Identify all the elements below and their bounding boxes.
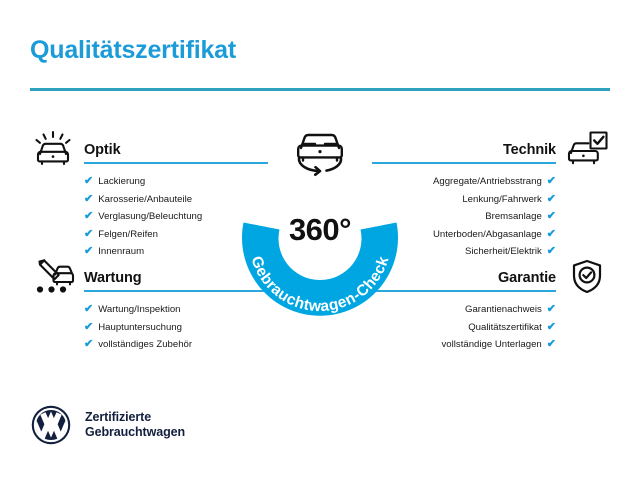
page-title: Qualitätszertifikat xyxy=(30,36,236,65)
check-icon: ✔ xyxy=(547,229,556,240)
check-icon: ✔ xyxy=(547,304,556,315)
list-item-label: vollständiges Zubehör xyxy=(98,336,192,354)
list-item-label: Felgen/Reifen xyxy=(98,226,158,244)
check-icon: ✔ xyxy=(547,322,556,333)
list-item-label: Unterboden/Abgasanlage xyxy=(433,226,542,244)
check-icon: ✔ xyxy=(547,246,556,257)
list-item-label: Qualitätszertifikat xyxy=(468,319,542,337)
car-rotate-360-icon xyxy=(285,124,355,182)
list-item-label: Hauptuntersuchung xyxy=(98,319,182,337)
vw-certified-text: Zertifizierte Gebrauchtwagen xyxy=(85,410,185,441)
vw-logo-icon xyxy=(30,404,72,446)
check-icon: ✔ xyxy=(547,176,556,187)
list-item-label: Aggregate/Antriebsstrang xyxy=(433,173,542,191)
badge-center-label: 360° xyxy=(228,212,412,248)
check-icon: ✔ xyxy=(547,211,556,222)
list-item-label: Bremsanlage xyxy=(485,208,542,226)
vw-certified-line2: Gebrauchtwagen xyxy=(85,425,185,441)
badge-360-gebrauchtwagen-check: Gebrauchtwagen-Check 360° xyxy=(228,148,412,332)
list-item-label: Garantienachweis xyxy=(465,301,542,319)
check-icon: ✔ xyxy=(84,194,93,205)
section-technik-title: Technik xyxy=(503,142,556,158)
certificate-page: Qualitätszertifikat Optik ✔ xyxy=(0,0,640,480)
list-item-label: Wartung/Inspektion xyxy=(98,301,180,319)
list-item-label: vollständige Unterlagen xyxy=(442,336,542,354)
check-icon: ✔ xyxy=(84,176,93,187)
list-item: ✔ vollständige Unterlagen xyxy=(372,336,610,354)
check-icon: ✔ xyxy=(84,322,93,333)
list-item-label: Karosserie/Anbauteile xyxy=(98,191,192,209)
check-icon: ✔ xyxy=(547,339,556,350)
section-optik-title: Optik xyxy=(84,142,121,158)
vw-certified-line1: Zertifizierte xyxy=(85,410,185,426)
list-item: ✔ vollständiges Zubehör xyxy=(30,336,268,354)
check-icon: ✔ xyxy=(84,211,93,222)
list-item-label: Verglasung/Beleuchtung xyxy=(98,208,202,226)
section-wartung-title: Wartung xyxy=(84,270,142,286)
check-icon: ✔ xyxy=(84,339,93,350)
list-item-label: Lenkung/Fahrwerk xyxy=(462,191,541,209)
section-garantie-title: Garantie xyxy=(498,270,556,286)
check-icon: ✔ xyxy=(84,229,93,240)
check-icon: ✔ xyxy=(84,246,93,257)
check-icon: ✔ xyxy=(547,194,556,205)
title-divider xyxy=(30,88,610,91)
vw-certified-lockup: Zertifizierte Gebrauchtwagen xyxy=(30,404,185,446)
check-icon: ✔ xyxy=(84,304,93,315)
list-item-label: Lackierung xyxy=(98,173,145,191)
